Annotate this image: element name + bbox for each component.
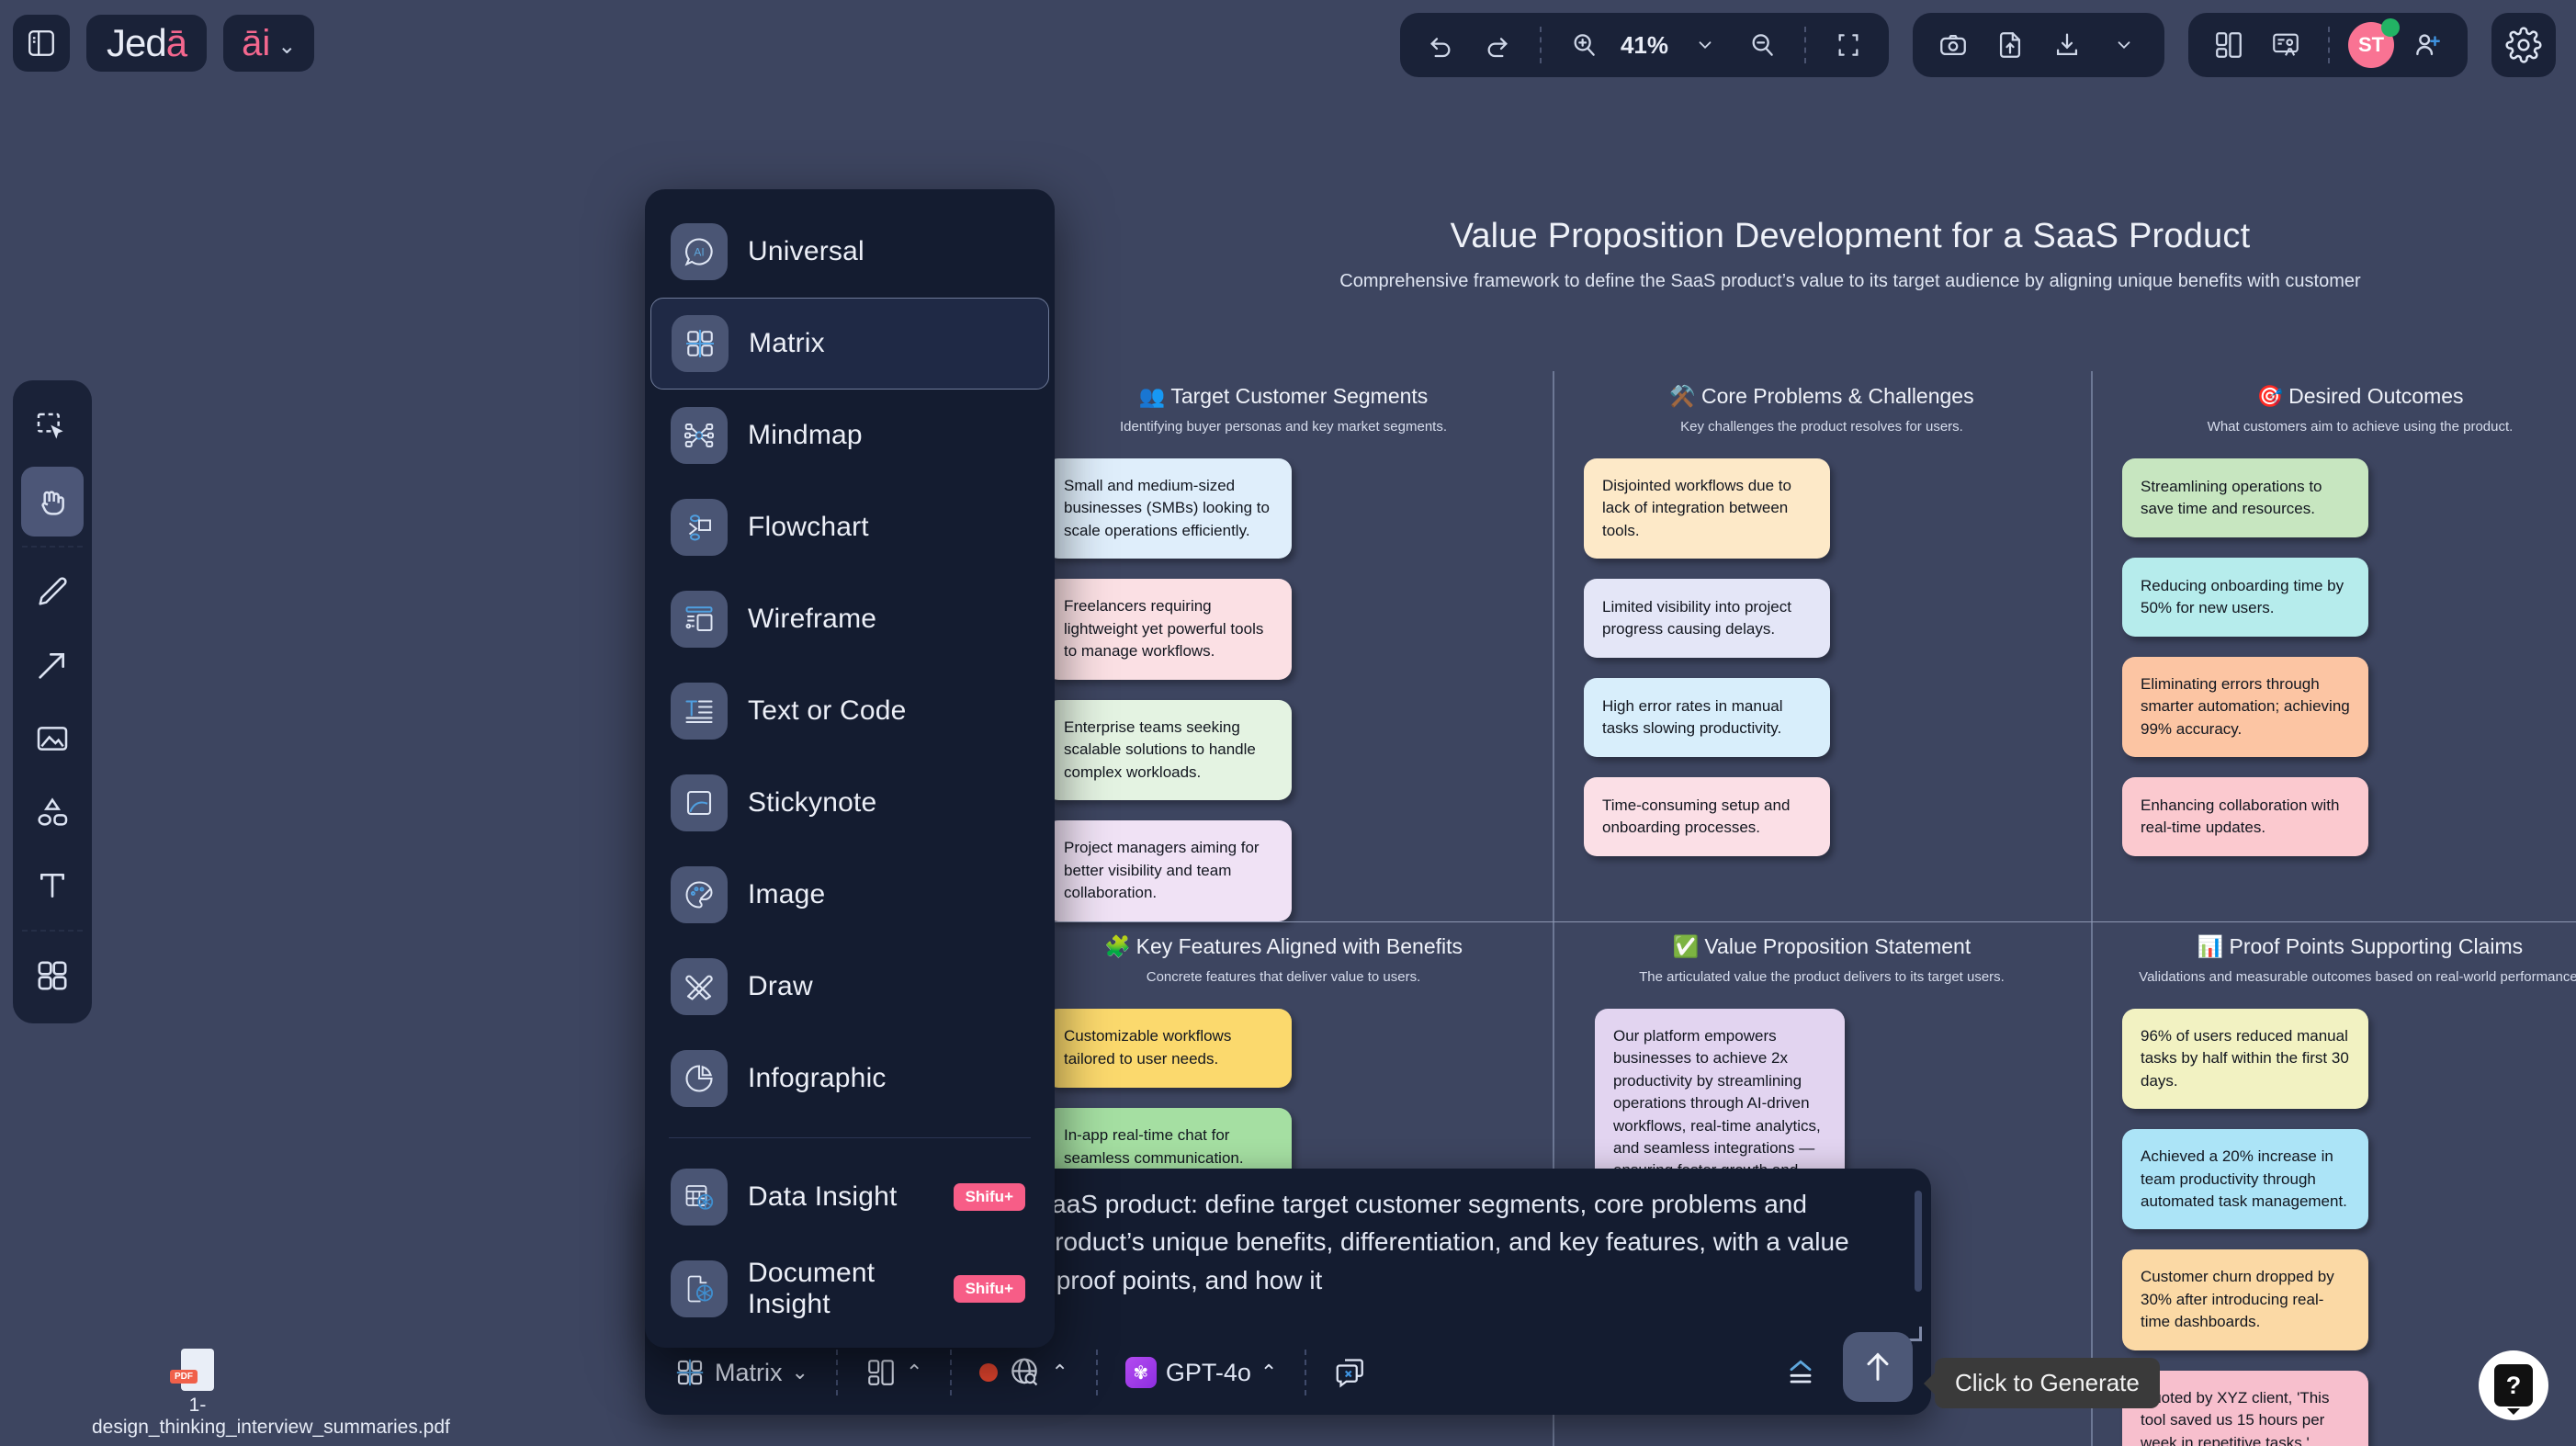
sticky-card-text: Customizable workflows tailored to user … bbox=[1064, 1025, 1273, 1070]
zoom-dropdown-button[interactable] bbox=[1681, 21, 1729, 69]
model-icon: ✾ bbox=[1125, 1357, 1157, 1388]
section-title: ⚒️Core Problems & Challenges bbox=[1669, 384, 1973, 409]
section-header: 📊Proof Points Supporting ClaimsValidatio… bbox=[2091, 921, 2576, 985]
topbar-right: 41% bbox=[1400, 13, 2556, 77]
sticky-card-text: Achieved a 20% increase in team producti… bbox=[2141, 1146, 2350, 1213]
download-button[interactable] bbox=[2043, 21, 2091, 69]
history-zoom-group: 41% bbox=[1400, 13, 1889, 77]
avatar-initials: ST bbox=[2358, 33, 2384, 57]
record-dot-icon bbox=[979, 1363, 998, 1382]
layout-selector[interactable]: ⌃ bbox=[853, 1344, 935, 1401]
section-title-text: Proof Points Supporting Claims bbox=[2230, 934, 2524, 959]
divider bbox=[22, 546, 83, 548]
text-icon bbox=[34, 867, 71, 904]
card-list: Streamlining operations to save time and… bbox=[2091, 435, 2576, 856]
sticky-card[interactable]: Customer churn dropped by 30% after intr… bbox=[2122, 1249, 2368, 1350]
sticky-card[interactable]: Customizable workflows tailored to user … bbox=[1045, 1009, 1292, 1088]
divider bbox=[22, 930, 83, 932]
fit-screen-icon bbox=[1834, 30, 1863, 60]
section-emoji-icon: 📊 bbox=[2198, 934, 2224, 959]
attach-expand-button[interactable] bbox=[1769, 1344, 1832, 1401]
section-description: Validations and measurable outcomes base… bbox=[2091, 969, 2576, 985]
menu-item-draw[interactable]: Draw bbox=[645, 941, 1055, 1033]
divider bbox=[1096, 1350, 1098, 1395]
section-title: 👥Target Customer Segments bbox=[1139, 384, 1429, 409]
flowchart-icon bbox=[671, 499, 728, 556]
help-button[interactable]: ? bbox=[2479, 1350, 2548, 1420]
sticky-card-text: Freelancers requiring lightweight yet po… bbox=[1064, 595, 1273, 662]
eject-icon bbox=[1782, 1354, 1819, 1391]
section-description: What customers aim to achieve using the … bbox=[2091, 419, 2576, 435]
menu-item-label: Flowchart bbox=[748, 512, 1029, 543]
menu-item-label: Universal bbox=[748, 236, 1029, 267]
menu-item-flowchart[interactable]: Flowchart bbox=[645, 481, 1055, 573]
section-emoji-icon: ✅ bbox=[1673, 934, 1700, 959]
arrow-tool-button[interactable] bbox=[21, 630, 84, 700]
menu-item-matrix[interactable]: Matrix bbox=[650, 298, 1049, 390]
matrix-cell: ⚒️Core Problems & ChallengesKey challeng… bbox=[1553, 371, 2091, 921]
topbar-left: Jedā āi ⌄ bbox=[13, 15, 314, 72]
stickynote-icon bbox=[671, 774, 728, 831]
avatar[interactable]: ST bbox=[2348, 22, 2394, 68]
sticky-card[interactable]: Limited visibility into project progress… bbox=[1584, 579, 1830, 658]
section-title: 🎯Desired Outcomes bbox=[2256, 384, 2463, 409]
sticky-card[interactable]: Freelancers requiring lightweight yet po… bbox=[1045, 579, 1292, 679]
matrix-board[interactable]: Value Proposition Development for a SaaS… bbox=[1014, 217, 2576, 292]
sticky-card-text: Enterprise teams seeking scalable soluti… bbox=[1064, 717, 1273, 784]
layout-icon bbox=[865, 1357, 897, 1388]
premium-badge: Shifu+ bbox=[954, 1183, 1025, 1211]
pdf-file-icon bbox=[181, 1349, 214, 1391]
sticky-card-text: Enhancing collaboration with real-time u… bbox=[2141, 795, 2350, 840]
text-tool-button[interactable] bbox=[21, 851, 84, 921]
section-title: 🧩Key Features Aligned with Benefits bbox=[1104, 934, 1463, 959]
chevron-up-icon: ⌃ bbox=[1051, 1361, 1068, 1384]
present-button[interactable] bbox=[2262, 21, 2310, 69]
capture-group bbox=[1913, 13, 2164, 77]
presentation-icon bbox=[2270, 29, 2301, 61]
sticky-card[interactable]: Small and medium-sized businesses (SMBs)… bbox=[1045, 458, 1292, 559]
sticky-card-text: Small and medium-sized businesses (SMBs)… bbox=[1064, 475, 1273, 542]
download-icon bbox=[2051, 29, 2083, 61]
sticky-card-text: Disjointed workflows due to lack of inte… bbox=[1602, 475, 1812, 542]
section-header: ✅Value Proposition StatementThe articula… bbox=[1553, 921, 2091, 985]
menu-item-text-or-code[interactable]: Text or Code bbox=[645, 665, 1055, 757]
section-title-text: Key Features Aligned with Benefits bbox=[1136, 934, 1463, 959]
chevron-down-icon bbox=[1695, 35, 1715, 55]
section-description: The articulated value the product delive… bbox=[1553, 969, 2091, 985]
sticky-card[interactable]: Disjointed workflows due to lack of inte… bbox=[1584, 458, 1830, 559]
section-description: Concrete features that deliver value to … bbox=[1014, 969, 1553, 985]
attachment-item[interactable]: 1-design_thinking_interview_summaries.pd… bbox=[92, 1349, 303, 1439]
online-status-dot bbox=[2381, 18, 2400, 37]
sticky-card[interactable]: Enhancing collaboration with real-time u… bbox=[2122, 777, 2368, 856]
diagram-type-selector[interactable]: Matrix ⌄ bbox=[661, 1344, 821, 1401]
section-header: 👥Target Customer SegmentsIdentifying buy… bbox=[1014, 371, 1553, 435]
sticky-card-text: Time-consuming setup and onboarding proc… bbox=[1602, 795, 1812, 840]
menu-item-wireframe[interactable]: Wireframe bbox=[645, 573, 1055, 665]
board-subtitle: Comprehensive framework to define the Sa… bbox=[1069, 271, 2576, 292]
add-collaborator-button[interactable] bbox=[2403, 21, 2451, 69]
divider bbox=[1804, 27, 1806, 63]
divider bbox=[2328, 27, 2330, 63]
menu-item-label: Infographic bbox=[748, 1063, 1029, 1094]
chevron-down-icon bbox=[2114, 35, 2134, 55]
section-emoji-icon: 👥 bbox=[1139, 384, 1166, 409]
shapes-tool-button[interactable] bbox=[21, 777, 84, 847]
section-title-text: Value Proposition Statement bbox=[1704, 934, 1971, 959]
arrow-icon bbox=[34, 647, 71, 683]
sticky-card-text: Limited visibility into project progress… bbox=[1602, 596, 1812, 641]
menu-item-label: Draw bbox=[748, 971, 1029, 1002]
sticky-card[interactable]: Project managers aiming for better visib… bbox=[1045, 820, 1292, 921]
screenshot-button[interactable] bbox=[1929, 21, 1977, 69]
layout-view-button[interactable] bbox=[2205, 21, 2253, 69]
menu-item-label: Mindmap bbox=[748, 420, 1029, 451]
camera-icon bbox=[1938, 29, 1969, 61]
board-title: Value Proposition Development for a SaaS… bbox=[1069, 217, 2576, 256]
menu-item-mindmap[interactable]: Mindmap bbox=[645, 390, 1055, 481]
menu-item-label: Document Insight bbox=[748, 1258, 933, 1320]
menu-item-label: Stickynote bbox=[748, 787, 1029, 819]
settings-button[interactable] bbox=[2491, 13, 2556, 77]
redo-button[interactable] bbox=[1474, 21, 1521, 69]
sticky-card[interactable]: Enterprise teams seeking scalable soluti… bbox=[1045, 700, 1292, 800]
logo-accent: ā bbox=[166, 21, 186, 65]
premium-badge: Shifu+ bbox=[954, 1275, 1025, 1303]
section-description: Identifying buyer personas and key marke… bbox=[1014, 419, 1553, 435]
section-emoji-icon: 🎯 bbox=[2256, 384, 2283, 409]
chevron-up-icon: ⌃ bbox=[906, 1361, 922, 1384]
chevron-down-icon: ⌄ bbox=[277, 33, 296, 60]
zoom-level-label[interactable]: 41% bbox=[1617, 31, 1672, 60]
logo-text: Jed bbox=[107, 21, 166, 65]
send-button[interactable] bbox=[1843, 1332, 1913, 1402]
pencil-icon bbox=[34, 573, 71, 610]
image-icon bbox=[34, 720, 71, 757]
shapes-icon bbox=[34, 794, 71, 830]
section-title-text: Target Customer Segments bbox=[1170, 384, 1428, 409]
matrix-row: 👥Target Customer SegmentsIdentifying buy… bbox=[1014, 371, 2576, 921]
model-label: GPT-4o bbox=[1166, 1359, 1251, 1387]
menu-item-image[interactable]: Image bbox=[645, 849, 1055, 941]
download-dropdown-button[interactable] bbox=[2100, 21, 2148, 69]
fit-to-screen-button[interactable] bbox=[1825, 21, 1872, 69]
divider bbox=[836, 1350, 838, 1395]
generate-tooltip: Click to Generate bbox=[1935, 1358, 2160, 1408]
section-emoji-icon: ⚒️ bbox=[1669, 384, 1696, 409]
section-title-text: Core Problems & Challenges bbox=[1701, 384, 1974, 409]
divider bbox=[1305, 1350, 1306, 1395]
sticky-card-text: Quoted by XYZ client, 'This tool saved u… bbox=[2141, 1387, 2350, 1446]
add-person-icon bbox=[2412, 29, 2443, 61]
section-title: 📊Proof Points Supporting Claims bbox=[2198, 934, 2523, 959]
model-selector[interactable]: ✾ GPT-4o ⌃ bbox=[1113, 1344, 1290, 1401]
divider bbox=[1540, 27, 1542, 63]
panel-icon bbox=[26, 28, 57, 59]
web-search-selector[interactable]: ⌃ bbox=[966, 1344, 1080, 1401]
select-icon bbox=[34, 410, 71, 446]
zoom-out-button[interactable] bbox=[1738, 21, 1786, 69]
sticky-card[interactable]: Eliminating errors through smarter autom… bbox=[2122, 657, 2368, 757]
sticky-card[interactable]: Reducing onboarding time by 50% for new … bbox=[2122, 558, 2368, 637]
panel-toggle-button[interactable] bbox=[13, 15, 70, 72]
sticky-card-text: Eliminating errors through smarter autom… bbox=[2141, 673, 2350, 740]
menu-item-label: Wireframe bbox=[748, 604, 1029, 635]
sticky-card-text: Streamlining operations to save time and… bbox=[2141, 476, 2350, 521]
text-code-icon bbox=[671, 683, 728, 740]
redo-icon bbox=[1483, 30, 1512, 60]
divider bbox=[669, 1137, 1031, 1138]
prompt-scrollbar[interactable] bbox=[1915, 1191, 1922, 1292]
card-list: Disjointed workflows due to lack of inte… bbox=[1553, 435, 2091, 856]
section-emoji-icon: 🧩 bbox=[1104, 934, 1131, 959]
ai-label: āi bbox=[242, 23, 270, 64]
upload-button[interactable] bbox=[1986, 21, 2034, 69]
palette-icon bbox=[671, 866, 728, 923]
web-globe-icon bbox=[1007, 1355, 1042, 1390]
section-header: 🎯Desired OutcomesWhat customers aim to a… bbox=[2091, 371, 2576, 435]
draw-brush-icon bbox=[671, 958, 728, 1015]
attachment-filename: 1-design_thinking_interview_summaries.pd… bbox=[92, 1395, 303, 1439]
piechart-icon bbox=[671, 1050, 728, 1107]
matrix-grid-icon bbox=[672, 315, 729, 372]
upload-icon bbox=[1994, 29, 2026, 61]
collab-group: ST bbox=[2188, 13, 2468, 77]
image-tool-button[interactable] bbox=[21, 704, 84, 774]
sticky-card-text: 96% of users reduced manual tasks by hal… bbox=[2141, 1025, 2350, 1092]
gear-icon bbox=[2505, 27, 2542, 63]
sticky-card[interactable]: 96% of users reduced manual tasks by hal… bbox=[2122, 1009, 2368, 1109]
zoom-in-icon bbox=[1569, 30, 1599, 60]
section-title-text: Desired Outcomes bbox=[2288, 384, 2463, 409]
diagram-type-label: Matrix bbox=[715, 1359, 783, 1387]
undo-icon bbox=[1426, 30, 1455, 60]
mindmap-icon bbox=[671, 407, 728, 464]
svg-text:AI: AI bbox=[694, 246, 704, 259]
matrix-grid-icon bbox=[674, 1357, 706, 1388]
menu-item-infographic[interactable]: Infographic bbox=[645, 1033, 1055, 1124]
sticky-card[interactable]: Achieved a 20% increase in team producti… bbox=[2122, 1129, 2368, 1229]
chevron-down-icon: ⌄ bbox=[792, 1361, 808, 1384]
grid-divider bbox=[1014, 921, 2576, 922]
sticky-card[interactable]: Time-consuming setup and onboarding proc… bbox=[1584, 777, 1830, 856]
hand-icon bbox=[34, 483, 71, 520]
question-mark-icon: ? bbox=[2494, 1364, 2533, 1406]
menu-item-label: Data Insight bbox=[748, 1181, 933, 1213]
divider bbox=[950, 1350, 952, 1395]
wireframe-icon bbox=[671, 591, 728, 648]
menu-item-stickynote[interactable]: Stickynote bbox=[645, 757, 1055, 849]
grid-divider bbox=[2091, 371, 2093, 1446]
sticky-card-text: Reducing onboarding time by 50% for new … bbox=[2141, 575, 2350, 620]
menu-item-universal[interactable]: AIUniversal bbox=[645, 206, 1055, 298]
section-description: Key challenges the product resolves for … bbox=[1553, 419, 2091, 435]
matrix-cell: 🎯Desired OutcomesWhat customers aim to a… bbox=[2091, 371, 2576, 921]
layout-icon bbox=[2213, 29, 2244, 61]
left-tool-rail bbox=[13, 380, 92, 1023]
zoom-in-button[interactable] bbox=[1560, 21, 1608, 69]
document-insight-icon bbox=[671, 1260, 728, 1317]
clear-chat-button[interactable] bbox=[1321, 1344, 1380, 1401]
data-insight-icon bbox=[671, 1169, 728, 1226]
pencil-tool-button[interactable] bbox=[21, 557, 84, 627]
sticky-card-text: Project managers aiming for better visib… bbox=[1064, 837, 1273, 904]
section-header: ⚒️Core Problems & ChallengesKey challeng… bbox=[1553, 371, 2091, 435]
zoom-out-icon bbox=[1747, 30, 1777, 60]
widgets-tool-button[interactable] bbox=[21, 941, 84, 1011]
clear-chat-icon bbox=[1334, 1356, 1367, 1389]
menu-item-document-insight[interactable]: Document InsightShifu+ bbox=[645, 1243, 1055, 1335]
menu-item-label: Text or Code bbox=[748, 695, 1029, 727]
diagram-type-menu[interactable]: AIUniversalMatrixMindmapFlowchartWirefra… bbox=[645, 189, 1055, 1348]
menu-item-label: Matrix bbox=[749, 328, 1028, 359]
ai-mode-button[interactable]: āi ⌄ bbox=[223, 15, 314, 72]
chevron-up-icon: ⌃ bbox=[1260, 1361, 1277, 1384]
card-list: Small and medium-sized businesses (SMBs)… bbox=[1014, 435, 1553, 921]
sticky-card-text: Customer churn dropped by 30% after intr… bbox=[2141, 1266, 2350, 1333]
hand-tool-button[interactable] bbox=[21, 467, 84, 537]
menu-item-data-insight[interactable]: Data InsightShifu+ bbox=[645, 1151, 1055, 1243]
arrow-up-icon bbox=[1859, 1349, 1896, 1385]
sticky-card[interactable]: Streamlining operations to save time and… bbox=[2122, 458, 2368, 537]
section-title: ✅Value Proposition Statement bbox=[1673, 934, 1971, 959]
menu-item-label: Image bbox=[748, 879, 1029, 910]
matrix-cell: 👥Target Customer SegmentsIdentifying buy… bbox=[1014, 371, 1553, 921]
sticky-card-text: High error rates in manual tasks slowing… bbox=[1602, 695, 1812, 740]
ai-bubble-icon: AI bbox=[671, 223, 728, 280]
sticky-card[interactable]: High error rates in manual tasks slowing… bbox=[1584, 678, 1830, 757]
undo-button[interactable] bbox=[1417, 21, 1464, 69]
widgets-icon bbox=[34, 957, 71, 994]
sticky-card-text: In-app real-time chat for seamless commu… bbox=[1064, 1124, 1273, 1169]
section-header: 🧩Key Features Aligned with BenefitsConcr… bbox=[1014, 921, 1553, 985]
app-logo[interactable]: Jedā bbox=[86, 15, 207, 72]
select-tool-button[interactable] bbox=[21, 393, 84, 463]
